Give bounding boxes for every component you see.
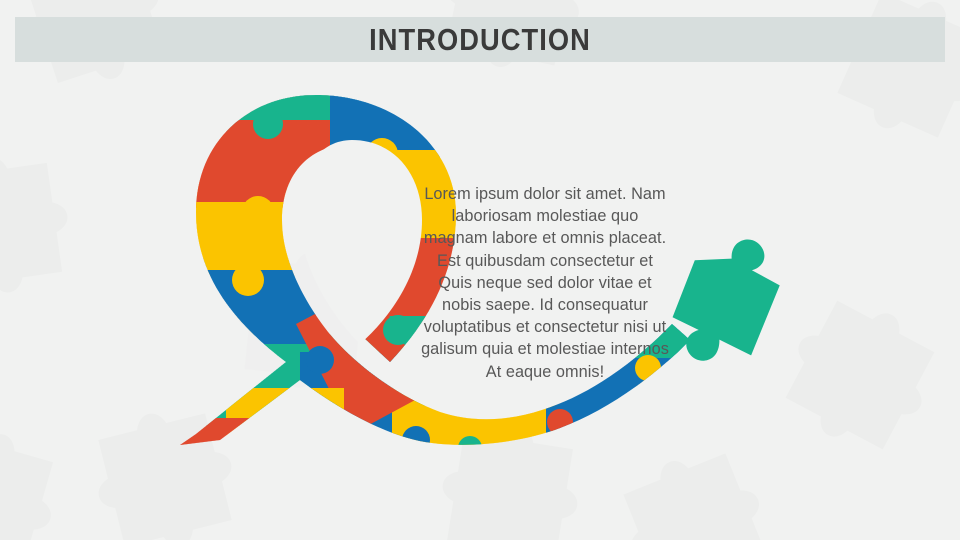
detached-puzzle-piece <box>666 229 787 372</box>
body-paragraph: Lorem ipsum dolor sit amet. Nam laborios… <box>420 183 670 383</box>
slide-root: INTRODUCTION <box>0 0 960 540</box>
page-title: INTRODUCTION <box>369 22 591 58</box>
slide-title-band: INTRODUCTION <box>15 17 945 62</box>
